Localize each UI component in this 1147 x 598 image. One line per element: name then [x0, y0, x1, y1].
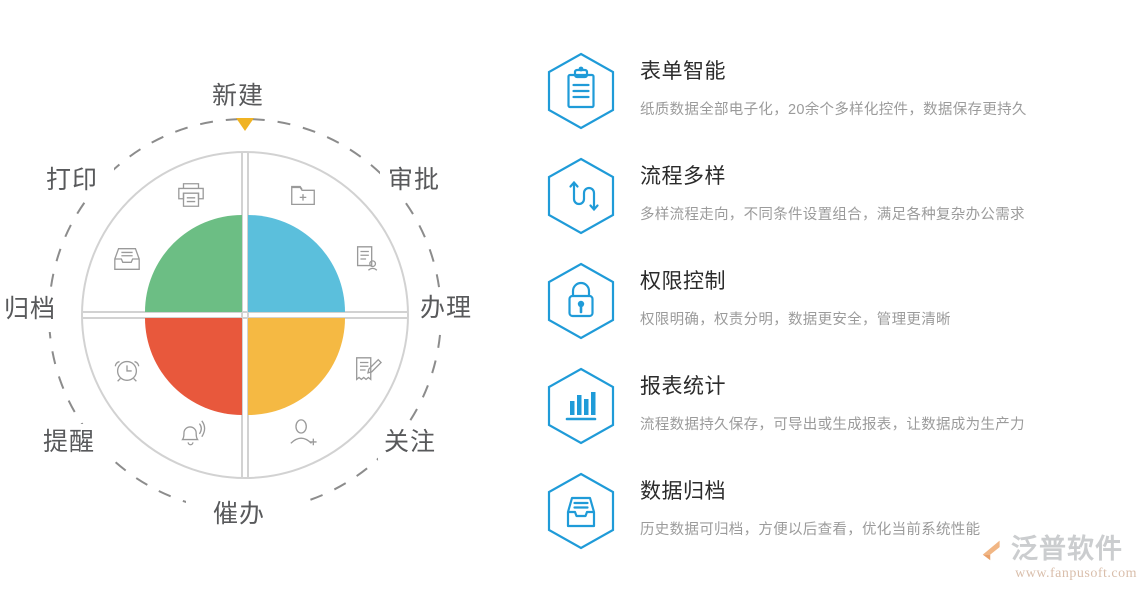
- feature-desc: 历史数据可归档，方便以后查看，优化当前系统性能: [640, 502, 1136, 538]
- feature-title: 权限控制: [640, 256, 1136, 292]
- flow-arrows-icon: [546, 157, 616, 235]
- feature-title: 报表统计: [640, 361, 1136, 397]
- user-plus-icon: [288, 418, 318, 448]
- feature-desc: 纸质数据全部电子化，20余个多样化控件，数据保存更持久: [640, 82, 1136, 118]
- watermark-url: www.fanpusoft.com: [979, 566, 1139, 582]
- mid-solid-ring: [82, 152, 408, 478]
- alarm-clock-icon: [112, 355, 142, 385]
- workflow-wheel-diagram: 新建 审批 办理 关注 催办 提醒 归档 打印: [0, 0, 520, 598]
- feature-desc: 流程数据持久保存，可导出或生成报表，让数据成为生产力: [640, 397, 1136, 433]
- fanpu-logo-icon: [979, 534, 1009, 564]
- printer-icon: [176, 180, 206, 210]
- feature-title: 数据归档: [640, 466, 1136, 502]
- inbox-archive-icon: [112, 244, 142, 274]
- feature-item-permission-control[interactable]: 权限控制 权限明确，权责分明，数据更安全，管理更清晰: [536, 256, 1136, 361]
- document-pen-icon: [352, 355, 382, 385]
- bar-chart-icon: [546, 367, 616, 445]
- document-person-icon: [352, 244, 382, 274]
- feature-title: 流程多样: [640, 151, 1136, 187]
- feature-title: 表单智能: [640, 46, 1136, 82]
- wheel-label-remind[interactable]: 提醒: [43, 430, 95, 455]
- wheel-label-handle[interactable]: 办理: [420, 296, 472, 321]
- feature-desc: 权限明确，权责分明，数据更安全，管理更清晰: [640, 292, 1136, 328]
- wheel-label-print[interactable]: 打印: [46, 168, 98, 193]
- watermark: 泛普软件 www.fanpusoft.com: [979, 534, 1139, 592]
- feature-item-form-intelligence[interactable]: 表单智能 纸质数据全部电子化，20余个多样化控件，数据保存更持久: [536, 46, 1136, 151]
- wheel-label-new[interactable]: 新建: [212, 84, 264, 109]
- wheel-label-follow[interactable]: 关注: [384, 430, 436, 455]
- quadrant-bottom-right: [248, 318, 345, 415]
- feature-item-flexible-workflow[interactable]: 流程多样 多样流程走向，不同条件设置组合，满足各种复杂办公需求: [536, 151, 1136, 256]
- feature-item-report-statistics[interactable]: 报表统计 流程数据持久保存，可导出或生成报表，让数据成为生产力: [536, 361, 1136, 466]
- lock-icon: [546, 262, 616, 340]
- bell-icon: [176, 418, 206, 448]
- folder-plus-icon: [288, 180, 318, 210]
- quadrant-bottom-left: [145, 318, 242, 415]
- watermark-brand-row: 泛普软件: [979, 534, 1139, 564]
- quadrant-top-left: [145, 215, 242, 312]
- feature-desc: 多样流程走向，不同条件设置组合，满足各种复杂办公需求: [640, 187, 1136, 223]
- clipboard-icon: [546, 52, 616, 130]
- wheel-label-archive[interactable]: 归档: [4, 297, 56, 322]
- watermark-brand: 泛普软件: [1011, 536, 1123, 563]
- wheel-label-urge[interactable]: 催办: [213, 502, 265, 527]
- archive-box-icon: [546, 472, 616, 550]
- quadrant-top-right: [248, 215, 345, 312]
- feature-list: 表单智能 纸质数据全部电子化，20余个多样化控件，数据保存更持久 流程多样 多样…: [536, 46, 1136, 571]
- page-root: 新建 审批 办理 关注 催办 提醒 归档 打印: [0, 0, 1147, 598]
- wheel-label-approve[interactable]: 审批: [388, 168, 440, 193]
